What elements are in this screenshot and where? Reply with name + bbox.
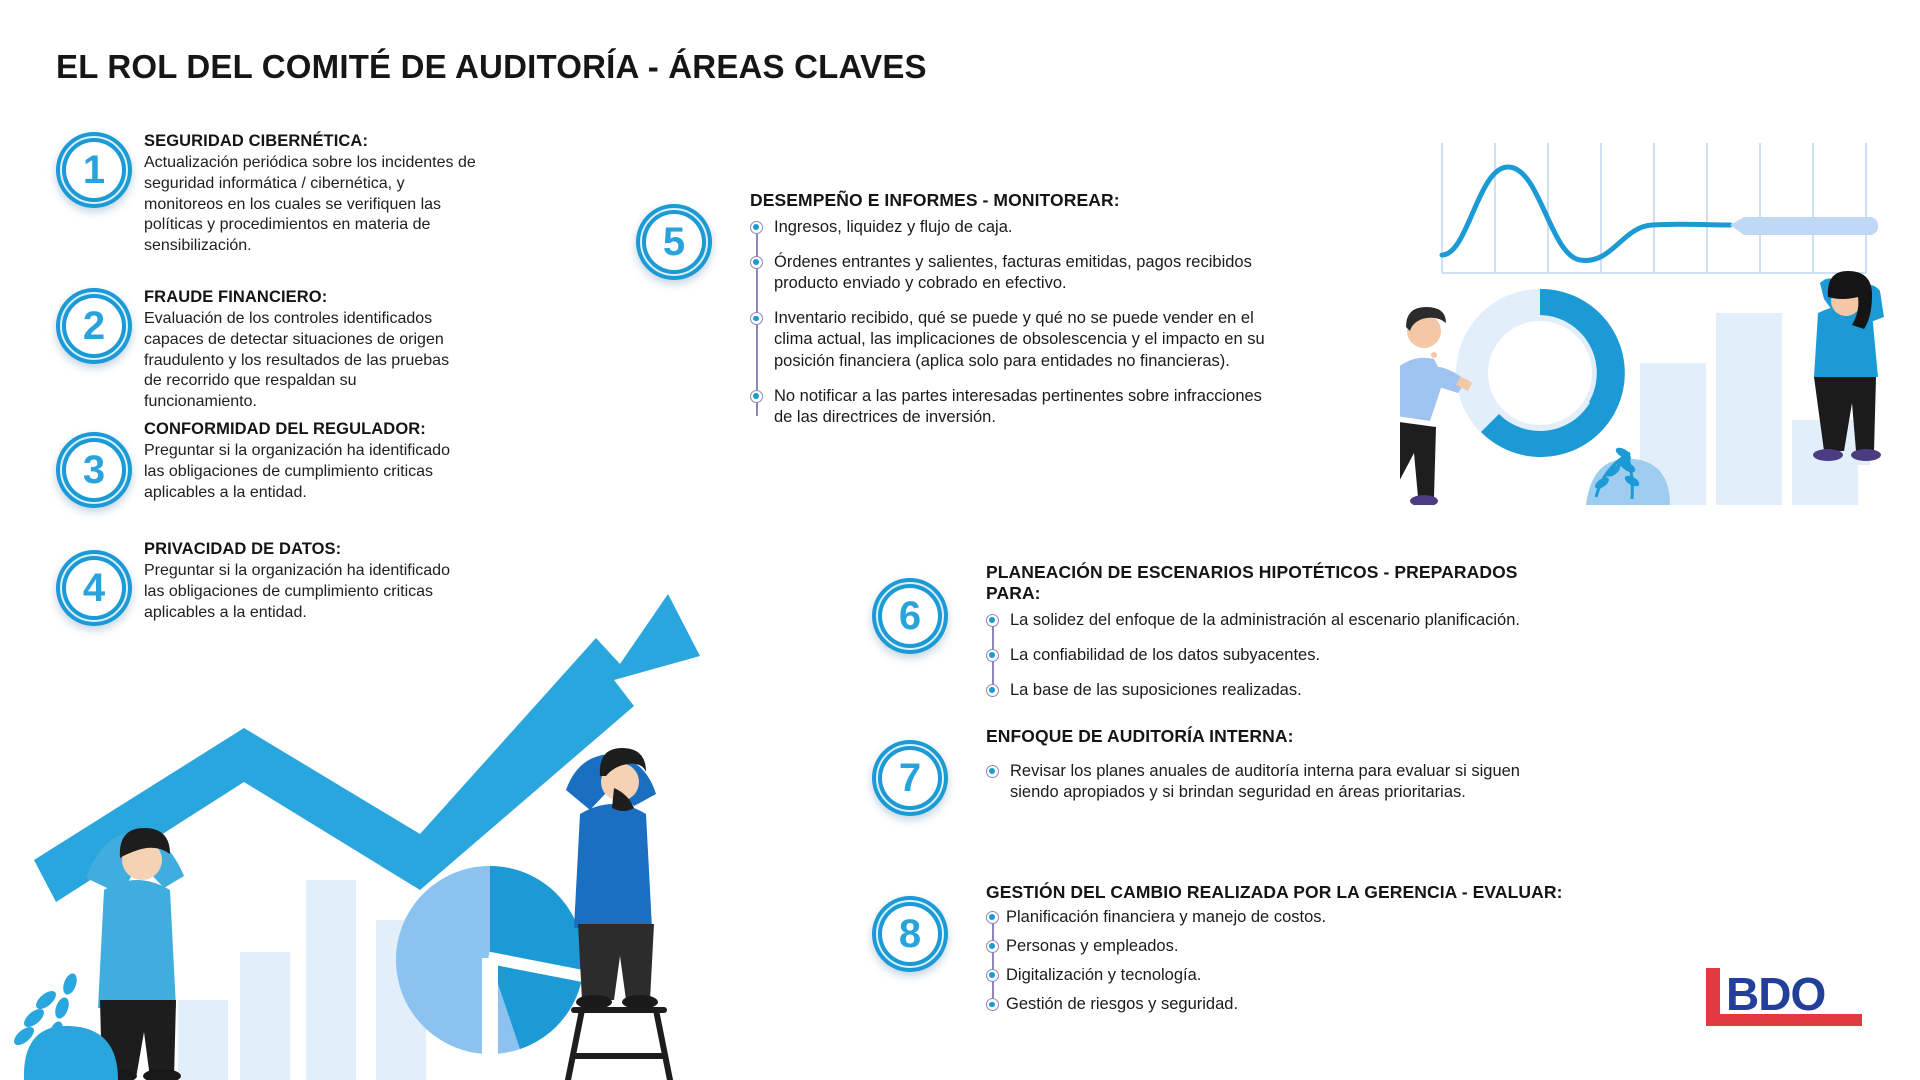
item-5-badge: 5 bbox=[636, 204, 712, 280]
list-item: Revisar los planes anuales de auditoría … bbox=[986, 761, 1572, 803]
bdo-logo: BDO bbox=[1704, 966, 1864, 1028]
item-8-heading: GESTIÓN DEL CAMBIO REALIZADA POR LA GERE… bbox=[986, 882, 1572, 903]
item-6: 6 PLANEACIÓN DE ESCENARIOS HIPOTÉTICOS -… bbox=[872, 562, 1572, 701]
item-2-heading: FRAUDE FINANCIERO: bbox=[144, 288, 456, 307]
item-3-heading: CONFORMIDAD DEL REGULADOR: bbox=[144, 420, 456, 439]
svg-text:BDO: BDO bbox=[1726, 968, 1825, 1020]
item-5-heading: DESEMPEÑO E INFORMES - MONITOREAR: bbox=[750, 190, 1276, 211]
bullet-text: No notificar a las partes interesadas pe… bbox=[774, 387, 1262, 426]
item-3: 3 CONFORMIDAD DEL REGULADOR: Preguntar s… bbox=[56, 420, 456, 503]
item-3-badge: 3 bbox=[56, 432, 132, 508]
list-item: No notificar a las partes interesadas pe… bbox=[750, 386, 1276, 428]
item-5-bullets: Ingresos, liquidez y flujo de caja. Órde… bbox=[750, 217, 1276, 428]
list-item: Inventario recibido, qué se puede y qué … bbox=[750, 308, 1276, 371]
item-4-number: 4 bbox=[83, 568, 105, 608]
item-4: 4 PRIVACIDAD DE DATOS: Preguntar si la o… bbox=[56, 540, 456, 623]
infographic-page: EL ROL DEL COMITÉ DE AUDITORÍA - ÁREAS C… bbox=[0, 0, 1920, 1080]
item-8-number: 8 bbox=[899, 914, 921, 954]
bullet-dot-icon bbox=[986, 684, 999, 697]
item-5-number: 5 bbox=[663, 222, 685, 262]
item-1: 1 SEGURIDAD CIBERNÉTICA: Actualización p… bbox=[56, 132, 476, 257]
item-6-heading: PLANEACIÓN DE ESCENARIOS HIPOTÉTICOS - P… bbox=[986, 562, 1572, 604]
item-6-badge: 6 bbox=[872, 578, 948, 654]
bullet-dot-icon bbox=[750, 312, 763, 325]
item-2-badge: 2 bbox=[56, 288, 132, 364]
list-item: La base de las suposiciones realizadas. bbox=[986, 680, 1572, 701]
list-item: Planificación financiera y manejo de cos… bbox=[986, 907, 1572, 928]
item-6-number: 6 bbox=[899, 596, 921, 636]
item-3-body: Preguntar si la organización ha identifi… bbox=[144, 441, 456, 503]
bullet-dot-icon bbox=[750, 221, 763, 234]
bullet-text: Inventario recibido, qué se puede y qué … bbox=[774, 309, 1265, 369]
bullet-dot-icon bbox=[986, 614, 999, 627]
item-3-number: 3 bbox=[83, 450, 105, 490]
bullet-dot-icon bbox=[986, 969, 999, 982]
item-8-badge: 8 bbox=[872, 896, 948, 972]
bullet-dot-icon bbox=[986, 998, 999, 1011]
list-item: La confiabilidad de los datos subyacente… bbox=[986, 645, 1572, 666]
item-1-badge: 1 bbox=[56, 132, 132, 208]
list-item: Digitalización y tecnología. bbox=[986, 965, 1572, 986]
bullet-text: La confiabilidad de los datos subyacente… bbox=[1010, 646, 1320, 664]
item-2: 2 FRAUDE FINANCIERO: Evaluación de los c… bbox=[56, 288, 456, 413]
item-1-number: 1 bbox=[83, 150, 105, 190]
bullet-text: Personas y empleados. bbox=[1006, 937, 1178, 955]
item-6-bullets: La solidez del enfoque de la administrac… bbox=[986, 610, 1572, 701]
item-7: 7 ENFOQUE DE AUDITORÍA INTERNA: Revisar … bbox=[872, 726, 1572, 803]
bullet-dot-icon bbox=[750, 390, 763, 403]
illustration-analytics-team bbox=[1400, 105, 1920, 505]
item-8-bullets: Planificación financiera y manejo de cos… bbox=[986, 907, 1572, 1015]
item-7-heading: ENFOQUE DE AUDITORÍA INTERNA: bbox=[986, 726, 1572, 747]
bullet-text: La solidez del enfoque de la administrac… bbox=[1010, 611, 1520, 629]
page-title: EL ROL DEL COMITÉ DE AUDITORÍA - ÁREAS C… bbox=[56, 48, 927, 86]
bullet-dot-icon bbox=[750, 256, 763, 269]
item-2-body: Evaluación de los controles identificado… bbox=[144, 309, 456, 413]
bullet-text: Órdenes entrantes y salientes, facturas … bbox=[774, 253, 1252, 292]
bullet-text: Gestión de riesgos y seguridad. bbox=[1006, 995, 1238, 1013]
item-2-number: 2 bbox=[83, 306, 105, 346]
list-item: Gestión de riesgos y seguridad. bbox=[986, 994, 1572, 1015]
list-item: Personas y empleados. bbox=[986, 936, 1572, 957]
bullet-dot-icon bbox=[986, 911, 999, 924]
bullet-text: Ingresos, liquidez y flujo de caja. bbox=[774, 218, 1012, 236]
item-4-badge: 4 bbox=[56, 550, 132, 626]
item-4-heading: PRIVACIDAD DE DATOS: bbox=[144, 540, 456, 559]
item-5: 5 DESEMPEÑO E INFORMES - MONITOREAR: Ing… bbox=[636, 190, 1276, 428]
bullet-text: Revisar los planes anuales de auditoría … bbox=[1010, 762, 1520, 801]
item-1-heading: SEGURIDAD CIBERNÉTICA: bbox=[144, 132, 476, 151]
bullet-dot-icon bbox=[986, 765, 999, 778]
bullet-text: Digitalización y tecnología. bbox=[1006, 966, 1201, 984]
illustration-growth-arrow-team bbox=[0, 560, 700, 1080]
item-4-body: Preguntar si la organización ha identifi… bbox=[144, 561, 456, 623]
list-item: Órdenes entrantes y salientes, facturas … bbox=[750, 252, 1276, 294]
bullet-dot-icon bbox=[986, 940, 999, 953]
item-8-bullet-rail bbox=[992, 919, 994, 1003]
item-1-body: Actualización periódica sobre los incide… bbox=[144, 153, 476, 257]
bullet-text: La base de las suposiciones realizadas. bbox=[1010, 681, 1302, 699]
item-7-badge: 7 bbox=[872, 740, 948, 816]
list-item: Ingresos, liquidez y flujo de caja. bbox=[750, 217, 1276, 238]
item-7-number: 7 bbox=[899, 758, 921, 798]
bullet-text: Planificación financiera y manejo de cos… bbox=[1006, 908, 1326, 926]
list-item: La solidez del enfoque de la administrac… bbox=[986, 610, 1572, 631]
bullet-dot-icon bbox=[986, 649, 999, 662]
item-8: 8 GESTIÓN DEL CAMBIO REALIZADA POR LA GE… bbox=[872, 882, 1572, 1015]
item-7-bullets: Revisar los planes anuales de auditoría … bbox=[986, 761, 1572, 803]
